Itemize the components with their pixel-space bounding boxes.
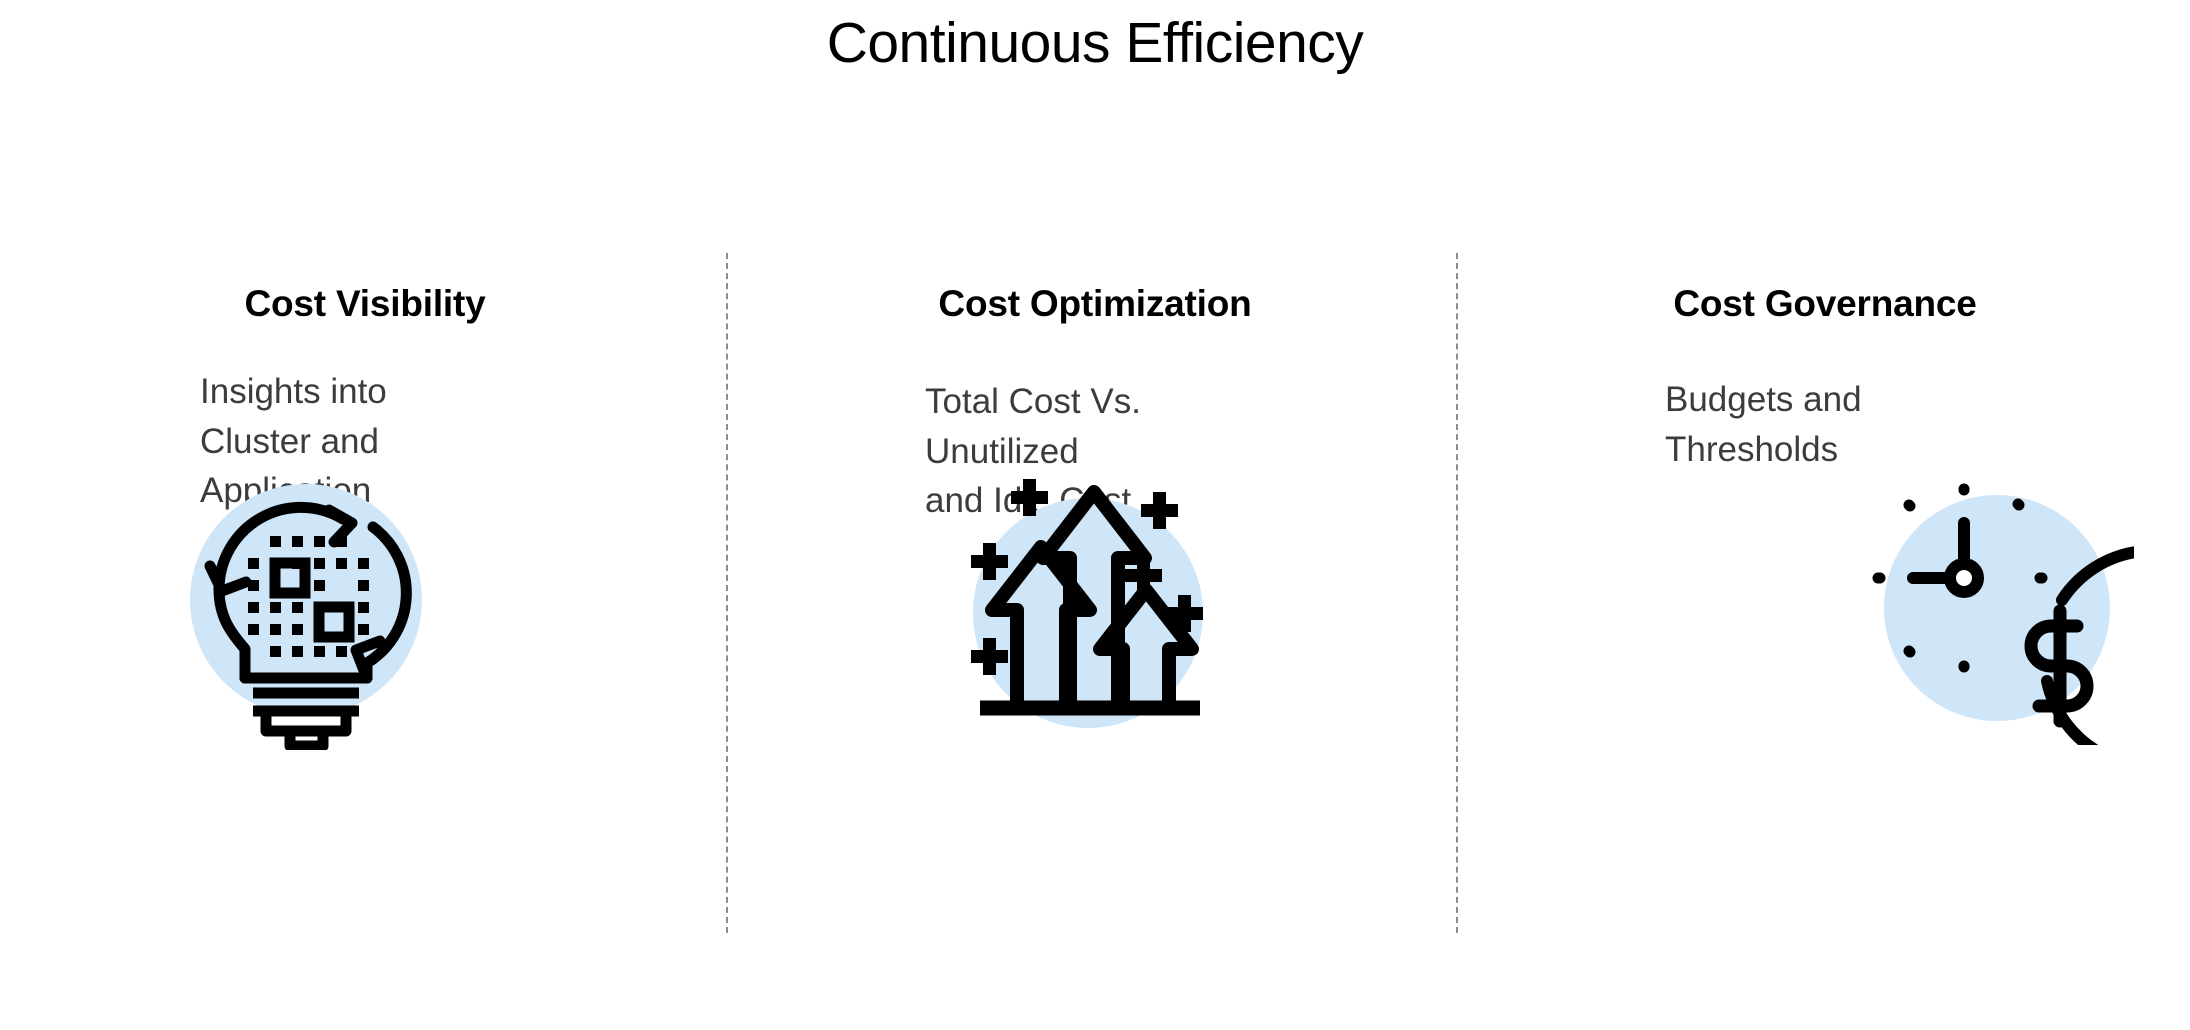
clock-dollar-icon bbox=[1834, 445, 2134, 745]
body-line: Total Cost Vs. bbox=[925, 377, 1265, 427]
column-heading-cost-visibility: Cost Visibility bbox=[245, 283, 486, 325]
columns-container: Cost Visibility Insights into Cluster an… bbox=[0, 245, 2190, 945]
column-cost-governance: Cost Governance Budgets and Thresholds bbox=[1460, 245, 2190, 945]
divider-1 bbox=[726, 253, 728, 933]
column-heading-cost-governance: Cost Governance bbox=[1673, 283, 1976, 325]
page-title: Continuous Efficiency bbox=[0, 14, 2190, 74]
body-line: Insights into bbox=[200, 367, 530, 417]
column-heading-cost-optimization: Cost Optimization bbox=[938, 283, 1251, 325]
column-cost-visibility: Cost Visibility Insights into Cluster an… bbox=[0, 245, 730, 945]
slide-root: Continuous Efficiency Cost Visibility In… bbox=[0, 0, 2190, 1030]
growth-arrows-icon bbox=[938, 450, 1238, 750]
column-cost-optimization: Cost Optimization Total Cost Vs. Unutili… bbox=[730, 245, 1460, 945]
divider-2 bbox=[1456, 253, 1458, 933]
lightbulb-circuit-refresh-icon bbox=[166, 450, 466, 750]
body-line: Budgets and bbox=[1665, 375, 1985, 425]
